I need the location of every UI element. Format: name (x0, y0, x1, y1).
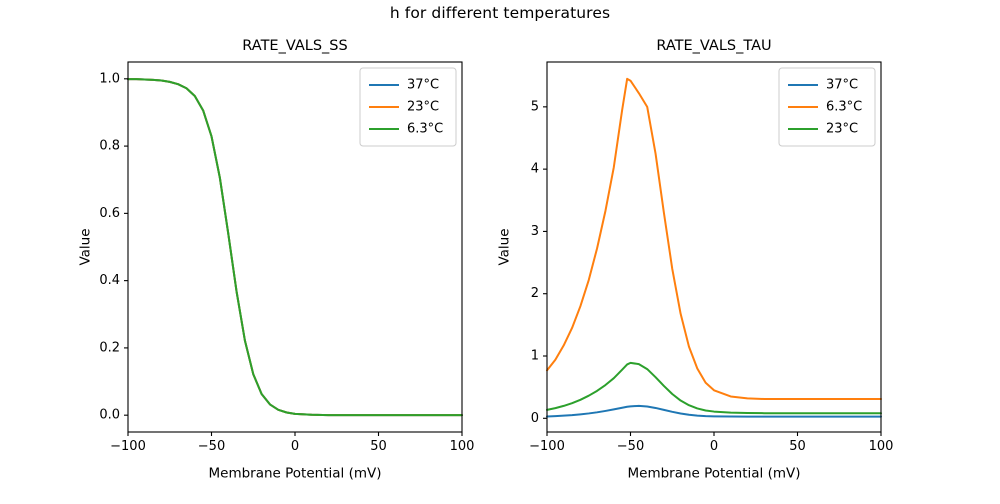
xticklabel-right-4: 100 (869, 439, 894, 454)
legend-label-right-0: 37°C (826, 78, 858, 93)
xticklabel-left-0: −100 (110, 439, 146, 454)
xticklabel-left-4: 100 (450, 439, 475, 454)
figure-canvas: h for different temperatures RATE_VALS_S… (0, 0, 1000, 500)
axes-right: RATE_VALS_TAU−100−50050100012345Membrane… (497, 38, 894, 482)
yticklabel-right-4: 4 (531, 162, 539, 177)
yticklabel-left-5: 1.0 (99, 71, 120, 86)
yticklabel-right-5: 5 (531, 99, 539, 114)
legend-label-right-2: 23°C (826, 122, 858, 137)
yticklabel-right-1: 1 (531, 349, 539, 364)
subplot-title-left: RATE_VALS_SS (242, 38, 347, 54)
yticklabel-right-3: 3 (531, 224, 539, 239)
figure-suptitle: h for different temperatures (0, 4, 1000, 22)
plots-svg: RATE_VALS_SS−100−500501000.00.20.40.60.8… (0, 0, 1000, 500)
xticklabel-right-3: 50 (789, 439, 806, 454)
xticklabel-left-2: 0 (291, 439, 299, 454)
yticklabel-left-1: 0.2 (99, 340, 120, 355)
yticklabel-left-2: 0.4 (99, 273, 120, 288)
yticklabel-left-0: 0.0 (99, 408, 120, 423)
axes-left: RATE_VALS_SS−100−500501000.00.20.40.60.8… (78, 38, 475, 482)
subplot-title-right: RATE_VALS_TAU (656, 38, 771, 54)
xticklabel-right-2: 0 (710, 439, 718, 454)
legend-label-left-1: 23°C (407, 100, 439, 115)
legend-left[interactable]: 37°C23°C6.3°C (360, 68, 456, 146)
yticklabel-left-3: 0.6 (99, 206, 120, 221)
legend-label-right-1: 6.3°C (826, 100, 862, 115)
legend-label-left-0: 37°C (407, 78, 439, 93)
ylabel-right: Value (497, 228, 513, 265)
curve-right-2 (547, 363, 881, 413)
yticklabel-right-0: 0 (531, 411, 539, 426)
xlabel-right: Membrane Potential (mV) (627, 466, 800, 482)
legend-right[interactable]: 37°C6.3°C23°C (779, 68, 875, 146)
xlabel-left: Membrane Potential (mV) (208, 466, 381, 482)
xticklabel-right-0: −100 (529, 439, 565, 454)
yticklabel-right-2: 2 (531, 286, 539, 301)
yticklabel-left-4: 0.8 (99, 139, 120, 154)
xticklabel-left-1: −50 (198, 439, 225, 454)
xticklabel-right-1: −50 (617, 439, 644, 454)
legend-label-left-2: 6.3°C (407, 122, 443, 137)
xticklabel-left-3: 50 (370, 439, 387, 454)
ylabel-left: Value (78, 228, 94, 265)
